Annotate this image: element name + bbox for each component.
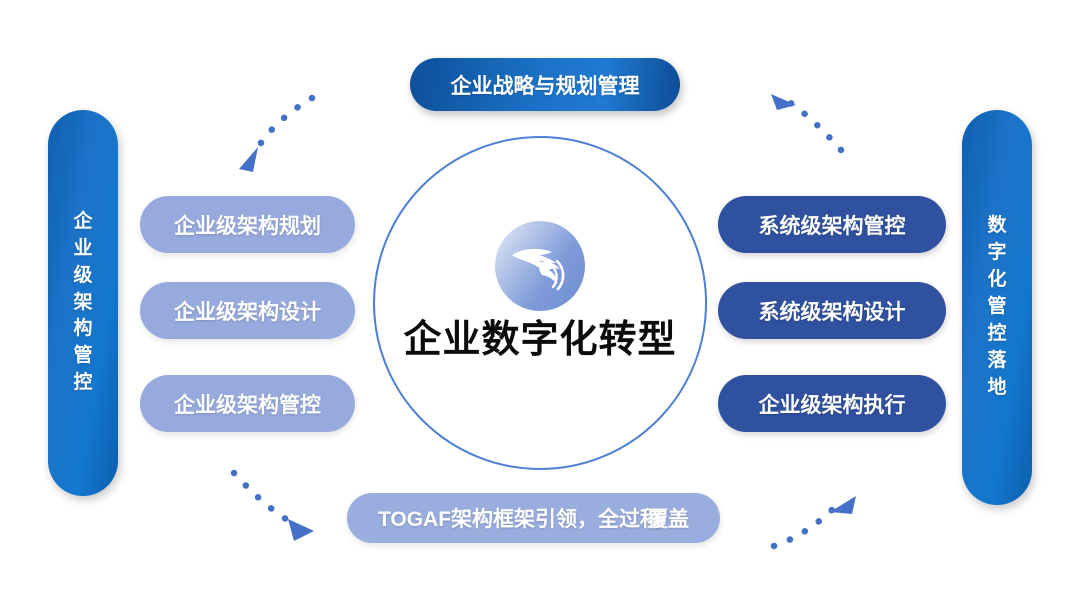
bottom-capsule[interactable]: TOGAF架构框架引领，全过程覆盖 [347, 493, 720, 543]
arrow-bottom-left [222, 455, 342, 565]
top-capsule[interactable]: 企业战略与规划管理 [410, 58, 680, 111]
right-pillar-label: 数字化管控落地 [985, 213, 1009, 402]
center-title: 企业数字化转型 [373, 308, 707, 363]
arrow-top-right [765, 82, 875, 192]
right-item-1[interactable]: 系统级架构管控 [718, 196, 946, 253]
left-item-1[interactable]: 企业级架构规划 [140, 196, 355, 253]
right-item-3-label: 企业级架构执行 [759, 389, 906, 419]
right-item-1-label: 系统级架构管控 [759, 210, 906, 240]
bottom-capsule-label: TOGAF架构框架引领，全过程 [378, 503, 661, 533]
right-item-2-label: 系统级架构设计 [759, 296, 906, 326]
top-capsule-label: 企业战略与规划管理 [451, 70, 640, 100]
left-item-3-label: 企业级架构管控 [174, 389, 321, 419]
left-item-2-label: 企业级架构设计 [174, 296, 321, 326]
left-pillar-label: 企业级架构管控 [71, 209, 95, 398]
left-item-1-label: 企业级架构规划 [174, 210, 321, 240]
right-item-2[interactable]: 系统级架构设计 [718, 282, 946, 339]
arrow-top-left [215, 90, 325, 200]
left-item-2[interactable]: 企业级架构设计 [140, 282, 355, 339]
bottom-capsule-label-tail: 覆盖 [647, 503, 689, 533]
left-pillar[interactable]: 企业级架构管控 [48, 110, 118, 496]
eagle-wing-logo-icon [495, 221, 585, 311]
left-item-3[interactable]: 企业级架构管控 [140, 375, 355, 432]
arrow-bottom-right [760, 458, 880, 568]
right-pillar[interactable]: 数字化管控落地 [962, 110, 1032, 505]
right-item-3[interactable]: 企业级架构执行 [718, 375, 946, 432]
diagram-canvas: 企业级架构管控 数字化管控落地 企业战略与规划管理 TOGAF架构框架引领，全过… [0, 0, 1080, 606]
